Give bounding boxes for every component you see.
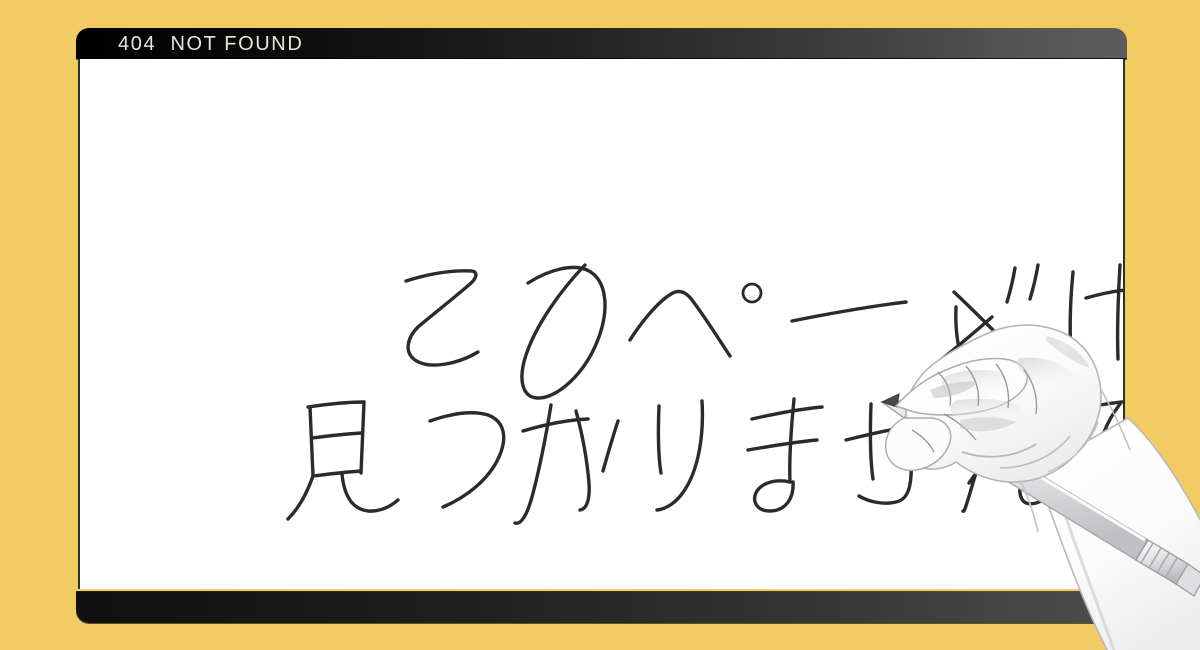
handwritten-message-strokes bbox=[80, 59, 1125, 589]
glyph-ka bbox=[515, 405, 618, 523]
handwritten-message bbox=[80, 59, 1125, 589]
glyph-se bbox=[846, 397, 923, 503]
glyph-ma bbox=[748, 399, 822, 511]
glyph-pe bbox=[630, 284, 761, 356]
glyph-de bbox=[1083, 400, 1125, 493]
glyph-no bbox=[522, 265, 605, 398]
glyph-ri bbox=[657, 401, 702, 510]
glyph-ko bbox=[406, 271, 478, 365]
whiteboard-surface bbox=[78, 59, 1125, 589]
glyph-choonpu bbox=[792, 302, 906, 321]
pencil-eraser bbox=[1176, 564, 1200, 596]
glyph-tsu bbox=[430, 413, 504, 507]
glyph-ha bbox=[1070, 265, 1125, 366]
glyph-ji bbox=[942, 265, 1038, 365]
glyph-mi bbox=[288, 402, 398, 519]
window-titlebar: 404 NOT FOUND bbox=[76, 28, 1127, 59]
whiteboard-frame: 404 NOT FOUND bbox=[76, 28, 1127, 623]
glyph-n bbox=[960, 398, 1055, 511]
pencil-ferrule bbox=[1136, 540, 1188, 584]
window-bottombar bbox=[76, 591, 1127, 623]
page-title: 404 NOT FOUND bbox=[118, 34, 303, 54]
page-root: 404 NOT FOUND bbox=[0, 0, 1200, 650]
